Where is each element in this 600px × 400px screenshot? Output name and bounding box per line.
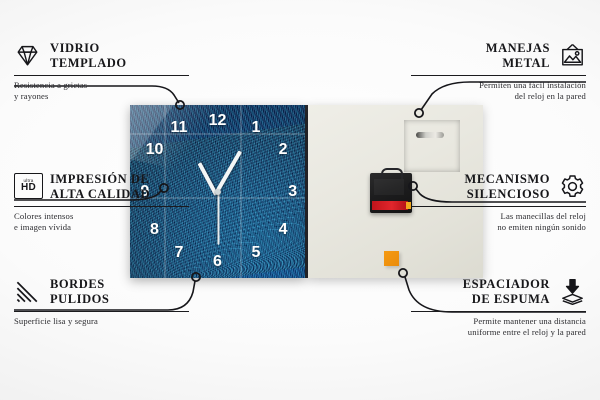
clock-numeral-3: 3	[288, 184, 297, 200]
callout-subtitle: Permiten una fácil instalación del reloj…	[411, 80, 586, 103]
callout-title-line1: ESPACIADOR	[463, 277, 550, 291]
callout-subtitle: Las manecillas del reloj no emiten ningú…	[411, 211, 586, 234]
callout-bordes-pulidos: BORDES PULIDOS Superficie lisa y segura	[14, 277, 189, 327]
polished-edges-icon	[14, 278, 41, 305]
callout-subtitle-line2: uniforme entre el reloj y la pared	[468, 327, 586, 337]
callout-subtitle-line2: e imagen vívida	[14, 222, 71, 232]
callout-title: MANEJAS METAL	[486, 41, 550, 71]
callout-subtitle: Colores intensos e imagen vívida	[14, 211, 189, 234]
callout-subtitle-line1: Permite mantener una distancia	[473, 316, 586, 326]
callout-title-line2: PULIDOS	[50, 292, 109, 306]
clock-numeral-1: 1	[252, 120, 261, 136]
callout-title-line2: METAL	[502, 56, 550, 70]
callout-subtitle-line2: del reloj en la pared	[515, 91, 586, 101]
clock-numeral-12: 12	[209, 113, 227, 129]
callout-title-line2: ALTA CALIDAD	[50, 187, 150, 201]
hd-icon-big-text: HD	[21, 183, 36, 194]
clock-numeral-10: 10	[146, 142, 164, 158]
callout-divider	[14, 311, 189, 312]
quartz-mechanism	[370, 173, 412, 213]
callout-subtitle-line2: no emiten ningún sonido	[497, 222, 586, 232]
callout-subtitle: Superficie lisa y segura	[14, 316, 189, 327]
callout-header: ultra HD IMPRESIÓN DE ALTA CALIDAD	[14, 172, 189, 202]
callout-divider	[411, 311, 586, 312]
mechanism-loop	[381, 168, 403, 179]
callout-title: BORDES PULIDOS	[50, 277, 109, 307]
clock-numeral-4: 4	[279, 222, 288, 238]
callout-subtitle: Permite mantener una distancia uniforme …	[411, 316, 586, 339]
battery	[372, 201, 408, 210]
callout-header: VIDRIO TEMPLADO	[14, 41, 189, 71]
hanger-slot	[416, 132, 444, 138]
callout-subtitle-line2: y rayones	[14, 91, 49, 101]
infographic-canvas: 12 1 2 3 4 5 6 7 8 9 10 11	[0, 0, 600, 400]
callout-header: MANEJAS METAL	[411, 41, 586, 71]
ultra-hd-icon: ultra HD	[14, 173, 41, 200]
callout-title-line2: SILENCIOSO	[467, 187, 550, 201]
callout-divider	[411, 75, 586, 76]
foam-spacer-icon	[559, 278, 586, 305]
diamond-icon	[14, 42, 41, 69]
callout-subtitle-line1: Las manecillas del reloj	[501, 211, 586, 221]
callout-header: MECANISMO SILENCIOSO	[411, 172, 586, 202]
callout-title: IMPRESIÓN DE ALTA CALIDAD	[50, 172, 150, 202]
gear-icon	[559, 173, 586, 200]
callout-title: ESPACIADOR DE ESPUMA	[463, 277, 550, 307]
callout-title: VIDRIO TEMPLADO	[50, 41, 127, 71]
callout-subtitle-line1: Permiten una fácil instalación	[479, 80, 586, 90]
callout-subtitle: Resistencia a grietas y rayones	[14, 80, 189, 103]
callout-subtitle-line1: Resistencia a grietas	[14, 80, 87, 90]
foam-spacer	[384, 251, 399, 266]
clock-numeral-11: 11	[171, 120, 188, 136]
callout-title: MECANISMO SILENCIOSO	[464, 172, 550, 202]
callout-impresion-alta-calidad: ultra HD IMPRESIÓN DE ALTA CALIDAD Color…	[14, 172, 189, 234]
callout-manejas-metal: MANEJAS METAL Permiten una fácil instala…	[411, 41, 586, 103]
callout-divider	[14, 75, 189, 76]
callout-title-line1: MECANISMO	[464, 172, 550, 186]
callout-header: BORDES PULIDOS	[14, 277, 189, 307]
clock-numeral-5: 5	[252, 245, 261, 261]
callout-vidrio-templado: VIDRIO TEMPLADO Resistencia a grietas y …	[14, 41, 189, 103]
wall-hanger-icon	[559, 42, 586, 69]
callout-title-line1: BORDES	[50, 277, 105, 291]
clock-second-hand	[218, 192, 220, 244]
clock-hands-cap	[215, 189, 221, 195]
clock-numeral-6: 6	[213, 254, 222, 270]
callout-subtitle-line1: Superficie lisa y segura	[14, 316, 98, 326]
callout-title-line1: IMPRESIÓN DE	[50, 172, 149, 186]
hanger-plate	[404, 120, 460, 172]
callout-title-line1: MANEJAS	[486, 41, 550, 55]
clock-numeral-7: 7	[175, 245, 184, 261]
callout-title-line2: TEMPLADO	[50, 56, 127, 70]
mechanism-highlight	[374, 179, 404, 195]
callout-header: ESPACIADOR DE ESPUMA	[411, 277, 586, 307]
callout-divider	[14, 206, 189, 207]
callout-divider	[411, 206, 586, 207]
callout-mecanismo-silencioso: MECANISMO SILENCIOSO Las manecillas del …	[411, 172, 586, 234]
clock-numeral-2: 2	[279, 142, 288, 158]
callout-subtitle-line1: Colores intensos	[14, 211, 73, 221]
callout-title-line1: VIDRIO	[50, 41, 100, 55]
callout-espaciador-espuma: ESPACIADOR DE ESPUMA Permite mantener un…	[411, 277, 586, 339]
callout-title-line2: DE ESPUMA	[472, 292, 550, 306]
